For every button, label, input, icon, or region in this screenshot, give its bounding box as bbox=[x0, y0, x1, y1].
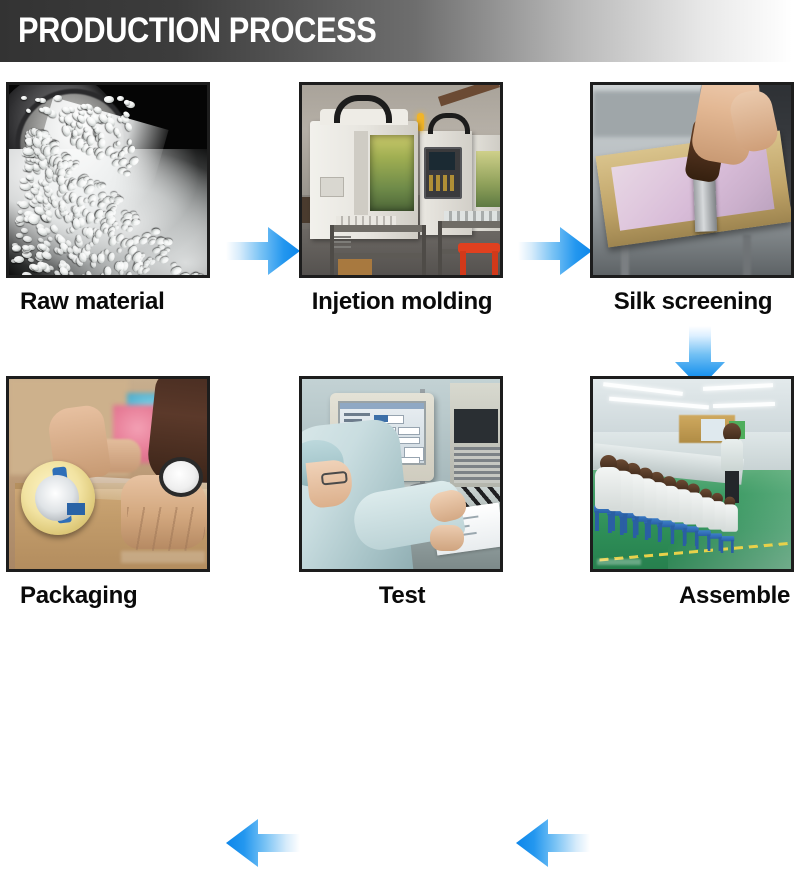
step-label-injection-molding: Injetion molding bbox=[299, 288, 505, 316]
production-process-infographic: PRODUCTION PROCESS Raw material bbox=[0, 0, 800, 631]
arrow-left-icon bbox=[516, 816, 590, 870]
page-title: PRODUCTION PROCESS bbox=[18, 11, 376, 51]
step-assemble[interactable]: Assemble bbox=[590, 368, 796, 631]
arrow-right-icon bbox=[226, 224, 300, 278]
header-banner: PRODUCTION PROCESS bbox=[0, 0, 800, 62]
raw-material-photo bbox=[6, 82, 210, 278]
step-label-silk-screening: Silk screening bbox=[590, 288, 796, 316]
packaging-photo bbox=[6, 376, 210, 572]
arrow-right-icon bbox=[518, 224, 592, 278]
process-row-top: Raw material bbox=[0, 76, 800, 316]
silk-screening-photo bbox=[590, 82, 794, 278]
step-test[interactable]: Test bbox=[299, 368, 505, 631]
step-raw-material[interactable]: Raw material bbox=[6, 76, 212, 316]
arrow-left-icon bbox=[226, 816, 300, 870]
assemble-photo bbox=[590, 376, 794, 572]
step-injection-molding[interactable]: Injetion molding bbox=[299, 76, 505, 316]
process-row-bottom: Packaging bbox=[0, 368, 800, 631]
step-label-assemble: Assemble bbox=[590, 582, 796, 610]
injection-molding-photo bbox=[299, 82, 503, 278]
step-label-raw-material: Raw material bbox=[6, 288, 212, 316]
step-label-test: Test bbox=[299, 582, 505, 610]
step-silk-screening[interactable]: Silk screening bbox=[590, 76, 796, 316]
step-packaging[interactable]: Packaging bbox=[6, 368, 212, 631]
step-label-packaging: Packaging bbox=[6, 582, 212, 610]
test-photo bbox=[299, 376, 503, 572]
